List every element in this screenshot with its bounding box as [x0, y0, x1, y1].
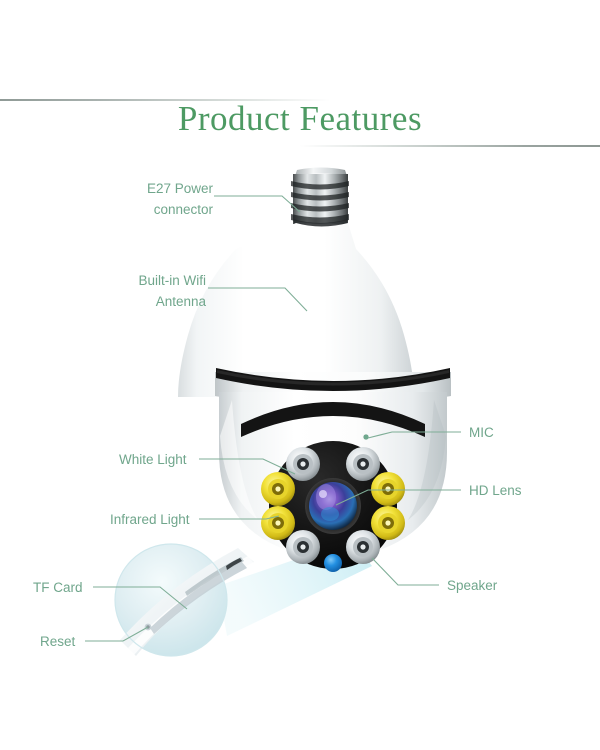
leader-dots: [363, 434, 368, 439]
infrared-led-upper-left: [261, 472, 295, 506]
product-illustration: [0, 0, 600, 750]
white-led-bottom-left: [286, 530, 320, 564]
callout-line-1: Speaker: [447, 576, 497, 595]
callout-line-1: E27 Power: [55, 178, 213, 199]
bulb-body: [178, 223, 414, 397]
callout-mic: MIC: [469, 423, 494, 442]
callout-line-1: Infrared Light: [110, 510, 190, 529]
callout-white-light: White Light: [119, 450, 187, 469]
callout-line-2: connector: [55, 199, 213, 220]
light-sensor-dot: [324, 554, 342, 572]
infrared-led-upper-right: [371, 472, 405, 506]
hd-lens-element: [305, 478, 361, 534]
e27-screw-base: [291, 168, 349, 231]
callout-reset: Reset: [40, 632, 75, 651]
callout-line-1: HD Lens: [469, 481, 522, 500]
white-led-top-left: [286, 447, 320, 481]
callout-speaker: Speaker: [447, 576, 497, 595]
callout-e27-power-connector: E27 Power connector: [55, 178, 213, 220]
camera-housing: [215, 368, 451, 569]
callout-tf-card: TF Card: [33, 578, 83, 597]
callout-infrared-light: Infrared Light: [110, 510, 190, 529]
callout-line-1: Built-in Wifi: [48, 270, 206, 291]
infrared-led-lower-right: [371, 506, 405, 540]
callout-line-1: Reset: [40, 632, 75, 651]
infrared-led-lower-left: [261, 506, 295, 540]
callout-line-1: White Light: [119, 450, 187, 469]
white-led-bottom-right: [346, 530, 380, 564]
callout-line-2: Antenna: [48, 291, 206, 312]
white-led-top-right: [346, 447, 380, 481]
callout-built-in-wifi-antenna: Built-in Wifi Antenna: [48, 270, 206, 312]
callout-hd-lens: HD Lens: [469, 481, 522, 500]
callout-line-1: MIC: [469, 423, 494, 442]
callout-line-1: TF Card: [33, 578, 83, 597]
product-features-page: Product Features: [0, 0, 600, 750]
